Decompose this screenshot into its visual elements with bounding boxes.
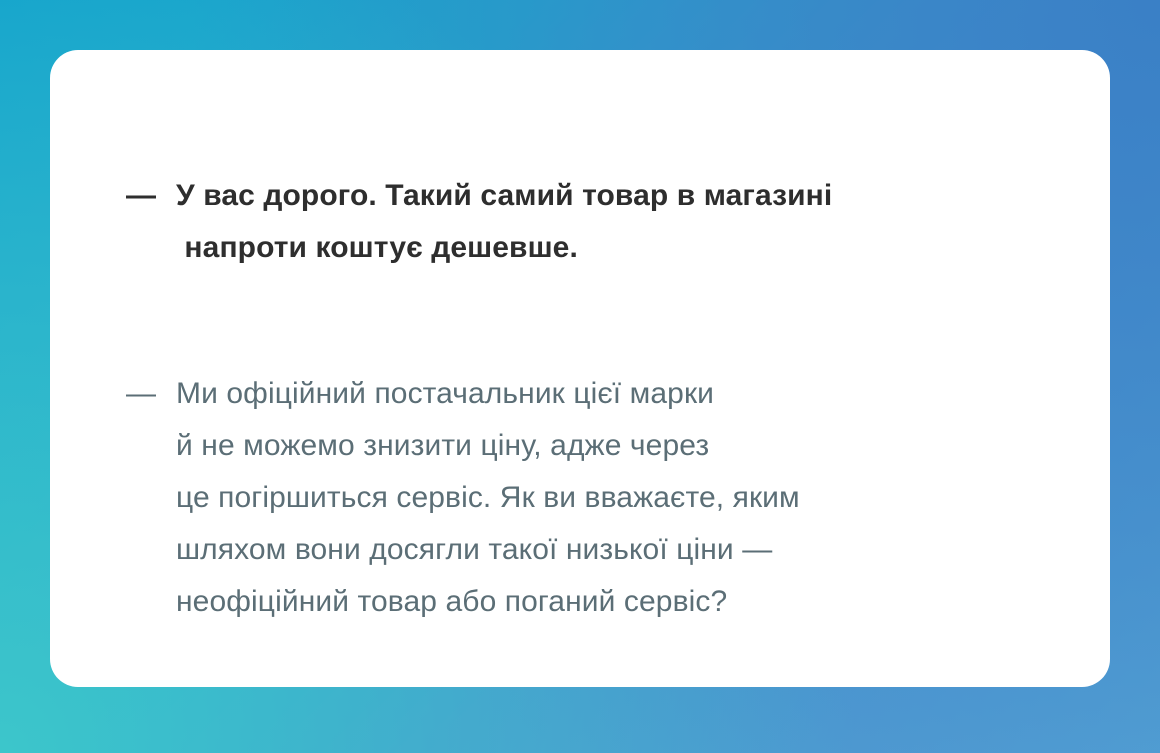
dialogue-container: — У вас дорого. Такий самий товар в мага… <box>126 170 1050 628</box>
question-line-1: У вас дорого. Такий самий товар в магази… <box>176 170 1050 222</box>
slide-background: — У вас дорого. Такий самий товар в мага… <box>0 0 1160 753</box>
dialogue-question: — У вас дорого. Такий самий товар в мага… <box>126 170 1050 274</box>
em-dash-marker-answer: — <box>126 368 176 420</box>
content-card: — У вас дорого. Такий самий товар в мага… <box>50 50 1110 687</box>
answer-line-4: шляхом вони досягли такої низької ціни — <box>176 524 1050 576</box>
question-line-2: напроти коштує дешевше. <box>176 222 1050 274</box>
answer-line-1: Ми офіційний постачальник цієї марки <box>176 368 1050 420</box>
answer-line-3: це погіршиться сервіс. Як ви вважаєте, я… <box>176 472 1050 524</box>
dialogue-answer: — Ми офіційний постачальник цієї марки й… <box>126 368 1050 628</box>
answer-line-5: неофіційний товар або поганий сервіс? <box>176 576 1050 628</box>
answer-line-2: й не можемо знизити ціну, адже через <box>176 420 1050 472</box>
answer-lines: Ми офіційний постачальник цієї марки й н… <box>176 368 1050 628</box>
question-lines: У вас дорого. Такий самий товар в магази… <box>176 170 1050 274</box>
em-dash-marker-question: — <box>126 170 176 222</box>
